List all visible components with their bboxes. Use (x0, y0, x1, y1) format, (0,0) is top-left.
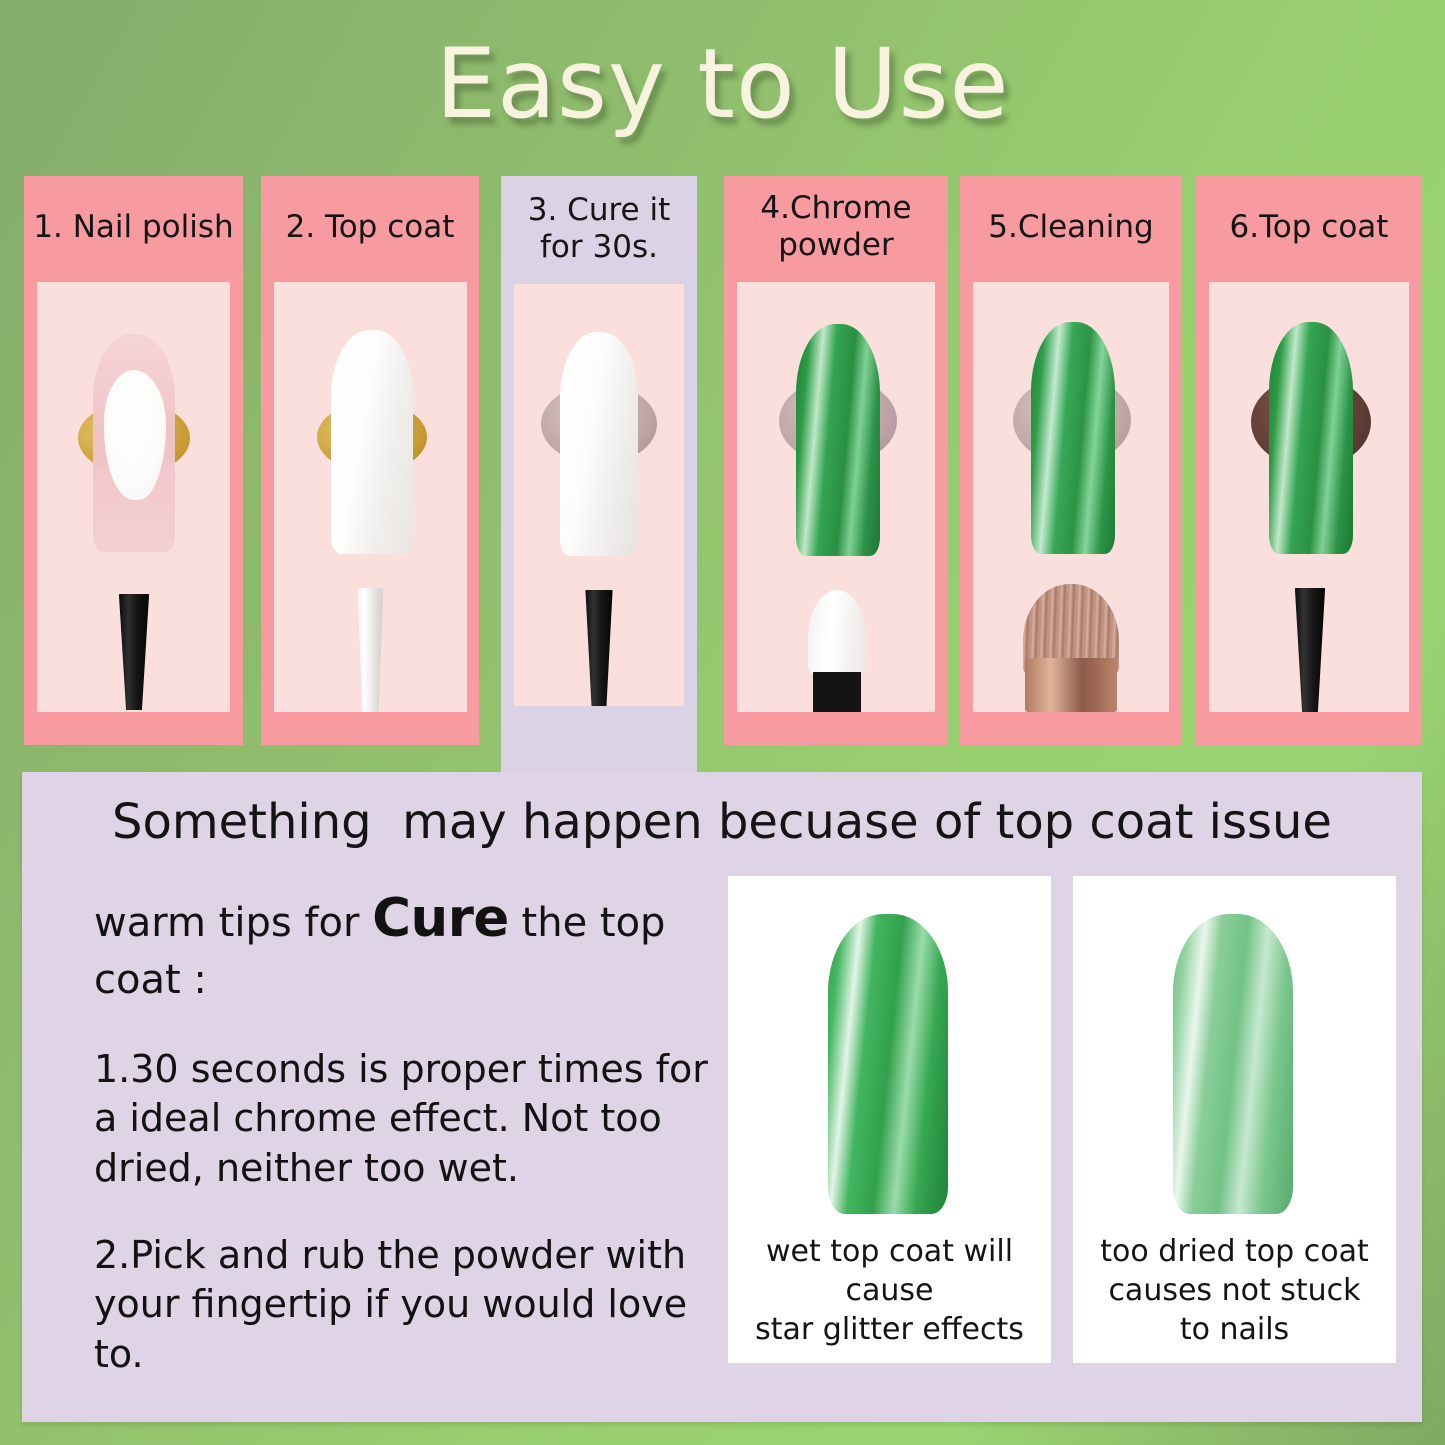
step-3-photo (514, 284, 684, 706)
step-6-label: 6.Top coat (1230, 209, 1389, 246)
comparison-caption-wet: wet top coat will cause star glitter eff… (736, 1232, 1043, 1349)
step-2-label: 2. Top coat (286, 209, 455, 246)
nail-tip-white (331, 330, 413, 554)
top-coat-brush-handle (354, 588, 388, 712)
bottom-info-panel: Something may happen becuase of top coat… (22, 772, 1422, 1422)
comparison-photo-wet (740, 894, 1040, 1226)
step-2-photo (274, 282, 467, 712)
step-2-header: 2. Top coat (261, 176, 479, 280)
top-coat-brush-handle (1292, 588, 1328, 712)
step-5-header: 5.Cleaning (960, 176, 1182, 280)
polish-brush-handle (116, 594, 152, 710)
step-6-header: 6.Top coat (1196, 176, 1422, 280)
warm-tips-column: warm tips for Cure the top coat : 1.30 s… (94, 884, 714, 1379)
step-card-5[interactable]: 5.Cleaning (960, 176, 1182, 745)
step-card-3[interactable]: 3. Cure it for 30s. (501, 176, 697, 776)
tip-paragraph-1: 1.30 seconds is proper times for a ideal… (94, 1045, 714, 1193)
nail-tip-chrome-green (1269, 322, 1353, 554)
white-polish-overlay (104, 370, 166, 500)
tip-lead-before: warm tips for (94, 900, 372, 946)
nail-tip-dried-chrome (1173, 914, 1293, 1214)
panel-heading: Something may happen becuase of top coat… (22, 794, 1422, 850)
step-1-label: 1. Nail polish (33, 209, 233, 246)
tip-paragraph-2: 2.Pick and rub the powder with your fing… (94, 1231, 714, 1379)
page-title: Easy to Use (435, 36, 1009, 132)
tip-lead-line: warm tips for Cure the top coat : (94, 884, 714, 1007)
step-4-photo (737, 282, 935, 712)
step-card-1[interactable]: 1. Nail polish (24, 176, 243, 745)
comparison-card-dried[interactable]: too dried top coat causes not stuck to n… (1073, 876, 1396, 1363)
step-1-photo (37, 282, 230, 712)
white-sponge-applicator (808, 590, 866, 676)
step-card-2[interactable]: 2. Top coat (261, 176, 479, 745)
step-5-label: 5.Cleaning (988, 209, 1154, 246)
step-5-photo (973, 282, 1169, 712)
title-bar: Easy to Use (0, 0, 1445, 168)
cleaning-brush-ferrule (1025, 658, 1117, 712)
nail-tip-wet-chrome (828, 914, 948, 1214)
step-3-label: 3. Cure it for 30s. (528, 192, 670, 265)
comparison-photo-dried (1085, 894, 1385, 1226)
cure-brush-handle (582, 590, 616, 706)
step-4-label: 4.Chrome powder (760, 190, 911, 263)
step-card-4[interactable]: 4.Chrome powder (724, 176, 948, 745)
nail-tip-chrome-green (796, 324, 880, 556)
cure-emphasis: Cure (372, 888, 509, 949)
comparison-card-wet[interactable]: wet top coat will cause star glitter eff… (728, 876, 1051, 1363)
step-3-header: 3. Cure it for 30s. (501, 176, 697, 284)
nail-tip-white (560, 332, 638, 556)
comparison-cards: wet top coat will cause star glitter eff… (728, 876, 1396, 1363)
step-card-6[interactable]: 6.Top coat (1196, 176, 1422, 745)
steps-strip: 1. Nail polish 2. Top coat 3. Cure it fo… (0, 176, 1445, 776)
step-1-header: 1. Nail polish (24, 176, 243, 280)
nail-tip-chrome-green (1031, 322, 1115, 554)
step-4-header: 4.Chrome powder (724, 176, 948, 280)
sponge-stick (813, 672, 861, 712)
step-6-photo (1209, 282, 1409, 712)
comparison-caption-dried: too dried top coat causes not stuck to n… (1100, 1232, 1368, 1349)
